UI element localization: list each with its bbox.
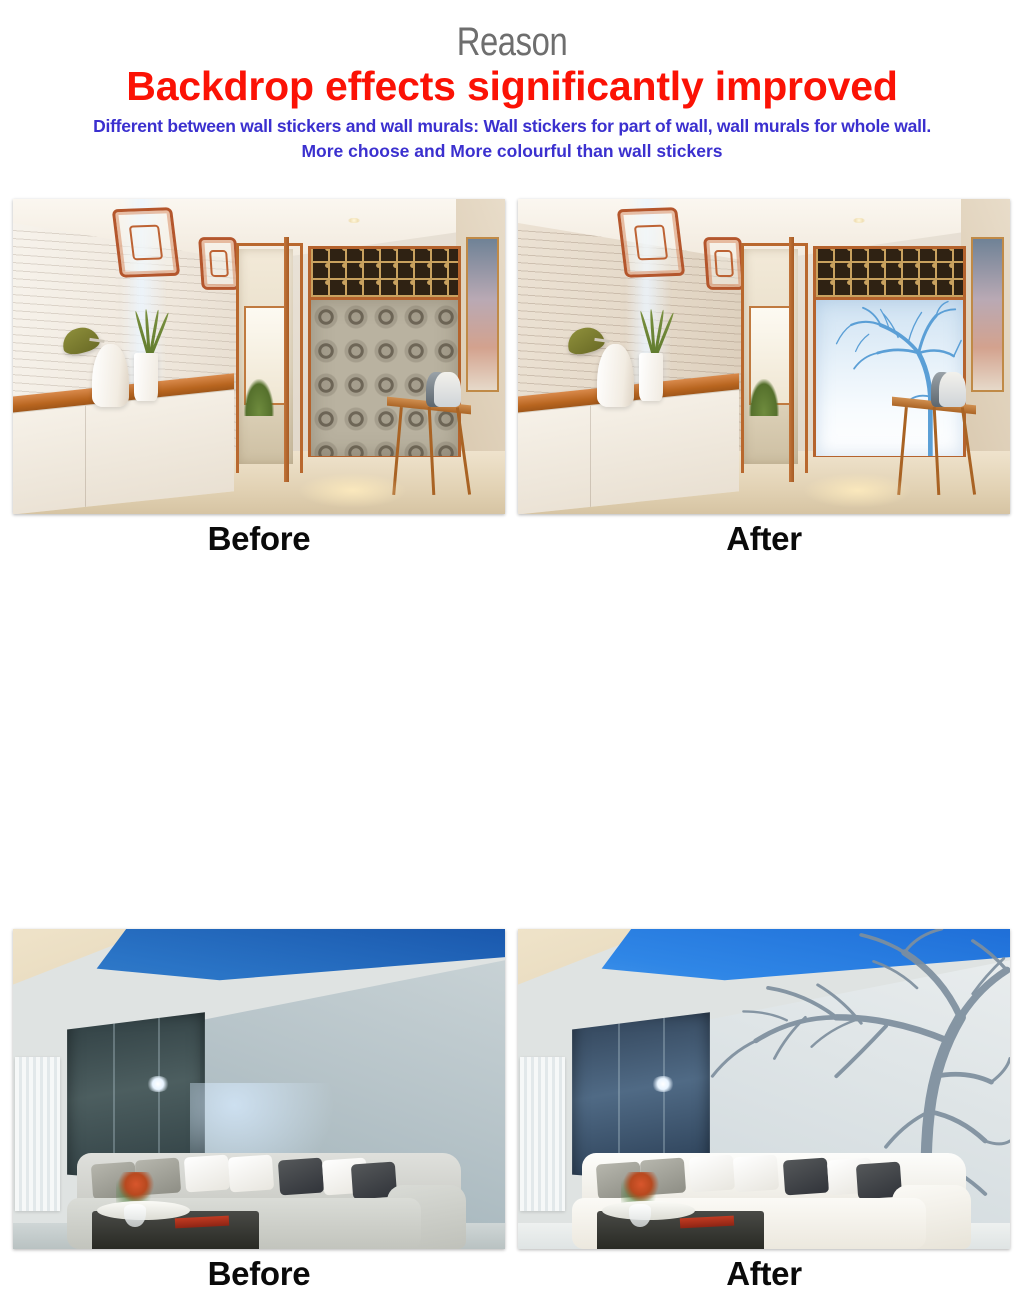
page-title: Backdrop effects significantly improved bbox=[0, 64, 1024, 108]
carved-lattice-panel bbox=[617, 208, 686, 279]
caption-before: Before bbox=[13, 520, 505, 558]
divider-post bbox=[284, 237, 290, 483]
glass-vase bbox=[124, 1204, 146, 1226]
ceiling-downlight-icon bbox=[348, 218, 361, 223]
floor-plant bbox=[244, 379, 274, 417]
wall-art bbox=[971, 237, 1005, 392]
header: Reason Backdrop effects significantly im… bbox=[0, 0, 1024, 164]
divider-post bbox=[789, 237, 795, 483]
glass-vase bbox=[629, 1204, 651, 1226]
living-room-before-photo[interactable] bbox=[13, 929, 505, 1249]
hallway-before-cell: Before bbox=[13, 199, 505, 558]
living-room-after-cell: After bbox=[518, 929, 1010, 1293]
hallway-after-photo[interactable] bbox=[518, 199, 1010, 514]
cushion bbox=[689, 1155, 736, 1193]
carved-lattice-panel bbox=[703, 237, 745, 290]
cushion bbox=[782, 1158, 829, 1196]
figurine-decor bbox=[939, 372, 966, 407]
caption-after: After bbox=[518, 520, 1010, 558]
comparison-row-living-room: Before bbox=[0, 561, 1024, 941]
hallway-before-photo[interactable] bbox=[13, 199, 505, 514]
carved-transom-panel bbox=[813, 246, 966, 300]
comparison-row-hallway: Before bbox=[0, 196, 1024, 561]
radiator bbox=[15, 1057, 59, 1211]
living-room-after-photo[interactable] bbox=[518, 929, 1010, 1249]
carved-lattice-panel bbox=[198, 237, 240, 290]
ceiling-downlight-icon bbox=[853, 218, 866, 223]
small-planter bbox=[639, 353, 664, 400]
caption-after: After bbox=[518, 1255, 1010, 1293]
living-room-before-cell: Before bbox=[13, 929, 505, 1293]
hallway-after-cell: After bbox=[518, 199, 1010, 558]
radiator bbox=[520, 1057, 564, 1211]
large-vase bbox=[92, 344, 129, 407]
floor-light-reflection bbox=[298, 473, 406, 508]
floor-plant bbox=[749, 379, 779, 417]
cushion bbox=[277, 1158, 324, 1196]
floor-light-reflection bbox=[803, 473, 911, 508]
subtitle-line-2: More choose and More colourful than wall… bbox=[0, 139, 1024, 164]
carved-transom-panel bbox=[308, 246, 461, 300]
cushion bbox=[733, 1155, 780, 1193]
comparison-grid: Before bbox=[0, 196, 1024, 941]
large-vase bbox=[597, 344, 634, 407]
cushion bbox=[184, 1155, 231, 1193]
caption-before: Before bbox=[13, 1255, 505, 1293]
wall-art bbox=[466, 237, 500, 392]
subtitle-line-1: Different between wall stickers and wall… bbox=[0, 114, 1024, 139]
potted-plant bbox=[636, 309, 670, 359]
carved-lattice-panel bbox=[112, 208, 181, 279]
small-planter bbox=[134, 353, 159, 400]
figurine-decor bbox=[434, 372, 461, 407]
potted-plant bbox=[131, 309, 165, 359]
cushion bbox=[228, 1155, 275, 1193]
eyebrow-title: Reason bbox=[92, 24, 932, 60]
